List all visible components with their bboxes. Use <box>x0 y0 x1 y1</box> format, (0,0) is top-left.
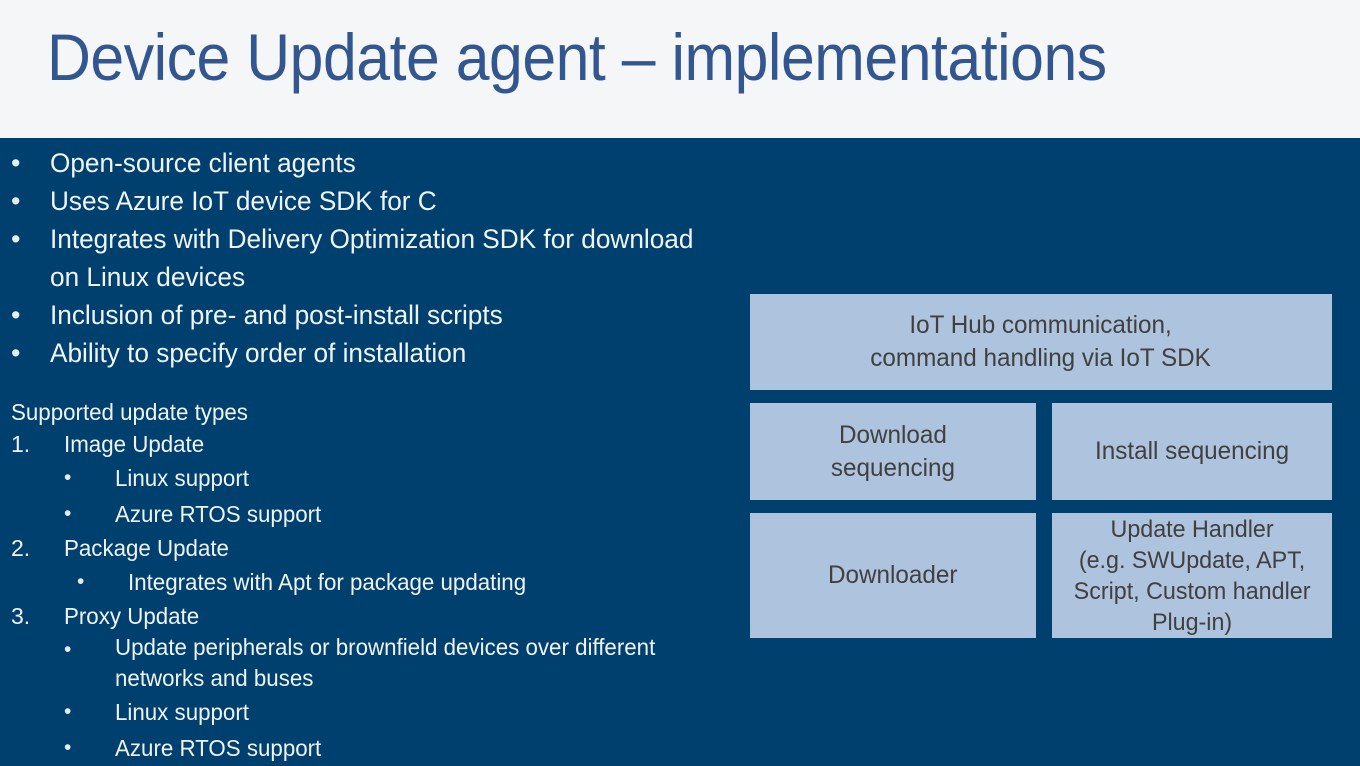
bullet-icon: • <box>11 182 27 220</box>
diagram-box-label: Downloadsequencing <box>831 419 955 485</box>
list-item-label: Ability to specify order of installation <box>50 334 482 372</box>
list-item: • Open-source client agents <box>0 144 740 182</box>
sub-list-item-label: Azure RTOS support <box>115 730 721 766</box>
list-number: 2. <box>11 532 30 564</box>
section-heading: Supported update types <box>11 396 718 428</box>
list-item: • Uses Azure IoT device SDK for C <box>0 182 740 220</box>
bullet-icon: • <box>77 564 84 600</box>
list-item-label: Image Update <box>64 428 720 460</box>
architecture-diagram: IoT Hub communication,command handling v… <box>750 294 1332 638</box>
diagram-box-label: Downloader <box>828 559 957 592</box>
sub-list-item-label: Linux support <box>115 694 721 730</box>
diagram-box-iot-hub: IoT Hub communication,command handling v… <box>750 294 1332 390</box>
slide: Device Update agent – implementations • … <box>0 0 1360 748</box>
sub-list-item-label: Integrates with Apt for package updating <box>128 564 722 600</box>
supported-update-types-section: Supported update types 1. Image Update •… <box>0 396 740 766</box>
page-title: Device Update agent – implementations <box>47 11 1107 103</box>
feature-bullet-list: • Open-source client agents • Uses Azure… <box>0 144 740 372</box>
diagram-box-install-sequencing: Install sequencing <box>1052 403 1332 500</box>
list-item-label: Package Update <box>64 532 720 564</box>
sub-list-item: • Update peripherals or brownfield devic… <box>0 632 740 694</box>
list-item: • Ability to specify order of installati… <box>0 334 740 372</box>
list-item: • Inclusion of pre- and post-install scr… <box>0 296 740 334</box>
bullet-icon: • <box>11 220 27 258</box>
list-number: 3. <box>11 600 30 632</box>
list-item-label: Integrates with Delivery Optimization SD… <box>50 220 719 296</box>
list-item-label: Inclusion of pre- and post-install scrip… <box>50 296 518 334</box>
numbered-list-item: 1. Image Update <box>0 428 740 460</box>
bullet-icon: • <box>64 460 71 496</box>
sub-list-item-label: Linux support <box>115 460 721 496</box>
bullet-icon: • <box>64 496 71 532</box>
left-content-column: • Open-source client agents • Uses Azure… <box>0 138 740 748</box>
diagram-box-label: Install sequencing <box>1095 435 1289 468</box>
bullet-icon: • <box>64 694 71 730</box>
sub-list-item-label: Update peripherals or brownfield devices… <box>115 632 721 694</box>
list-item-label: Open-source client agents <box>50 144 371 182</box>
numbered-list-item: 2. Package Update <box>0 532 740 564</box>
sub-list-item: • Linux support <box>0 694 740 730</box>
list-item-label: Uses Azure IoT device SDK for C <box>50 182 452 220</box>
bullet-icon: • <box>64 632 71 668</box>
sub-list-item: • Azure RTOS support <box>0 730 740 766</box>
bullet-icon: • <box>11 296 27 334</box>
list-item: • Integrates with Delivery Optimization … <box>0 220 740 296</box>
sub-list-item: • Linux support <box>0 460 740 496</box>
diagram-row-handlers: Downloader Update Handler(e.g. SWUpdate,… <box>750 513 1332 638</box>
diagram-box-label: Update Handler(e.g. SWUpdate, APT,Script… <box>1074 514 1311 638</box>
numbered-list-item: 3. Proxy Update <box>0 600 740 632</box>
bullet-icon: • <box>11 334 27 372</box>
bullet-icon: • <box>64 730 71 766</box>
sub-list-item-label: Azure RTOS support <box>115 496 721 532</box>
diagram-row-sequencing: Downloadsequencing Install sequencing <box>750 403 1332 500</box>
diagram-box-label: IoT Hub communication,command handling v… <box>871 309 1212 375</box>
bullet-icon: • <box>11 144 27 182</box>
diagram-box-download-sequencing: Downloadsequencing <box>750 403 1036 500</box>
diagram-box-update-handler: Update Handler(e.g. SWUpdate, APT,Script… <box>1052 513 1332 638</box>
list-number: 1. <box>11 428 30 460</box>
diagram-box-downloader: Downloader <box>750 513 1036 638</box>
slide-header: Device Update agent – implementations <box>0 0 1360 138</box>
sub-list-item: • Azure RTOS support <box>0 496 740 532</box>
list-item-label: Proxy Update <box>64 600 720 632</box>
sub-list-item: • Integrates with Apt for package updati… <box>0 564 740 600</box>
